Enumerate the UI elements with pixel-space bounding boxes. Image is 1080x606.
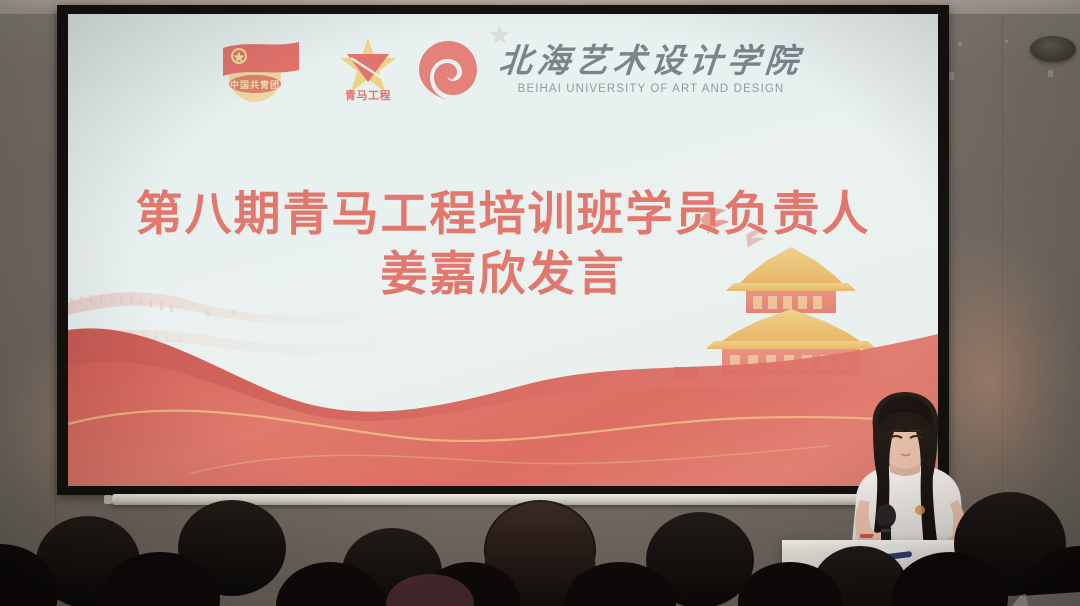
wall-blemish <box>1005 40 1008 43</box>
svg-text:中国共青团: 中国共青团 <box>230 79 280 90</box>
wall-seam <box>1002 14 1003 534</box>
projection-screen-frame: ★ <box>57 5 949 495</box>
red-wave-band <box>68 296 938 486</box>
communist-youth-league-emblem: 中国共青团 <box>203 36 321 104</box>
university-name-cn: 北海艺术设计学院 <box>497 45 804 80</box>
university-name-en: BEIHAI UNIVERSITY OF ART AND DESIGN <box>518 83 785 95</box>
presentation-slide: ★ <box>68 14 938 486</box>
svg-text:青马工程: 青马工程 <box>345 88 391 102</box>
slide-title-line-1: 第八期青马工程培训班学员负责人 <box>68 186 938 246</box>
slide-title-line-2: 姜嘉欣发言 <box>68 246 938 306</box>
wall-blemish <box>958 42 962 46</box>
university-name-block: 北海艺术设计学院 BEIHAI UNIVERSITY OF ART AND DE… <box>499 45 803 95</box>
slide-title: 第八期青马工程培训班学员负责人 姜嘉欣发言 <box>68 186 938 305</box>
ceiling-speaker-icon <box>1030 36 1076 62</box>
seated-audience <box>0 476 1080 606</box>
beihai-swirl-icon <box>415 37 481 103</box>
wall-seam <box>55 14 56 534</box>
qingma-project-logo: 青马工程 <box>337 36 399 104</box>
lecture-hall-photo: ★ <box>0 0 1080 606</box>
slide-header-logos: 中国共青团 青马工程 北海艺术设计学院 BEIHAI UNIVERSITY OF… <box>68 36 938 104</box>
wall-blemish <box>1048 70 1053 77</box>
